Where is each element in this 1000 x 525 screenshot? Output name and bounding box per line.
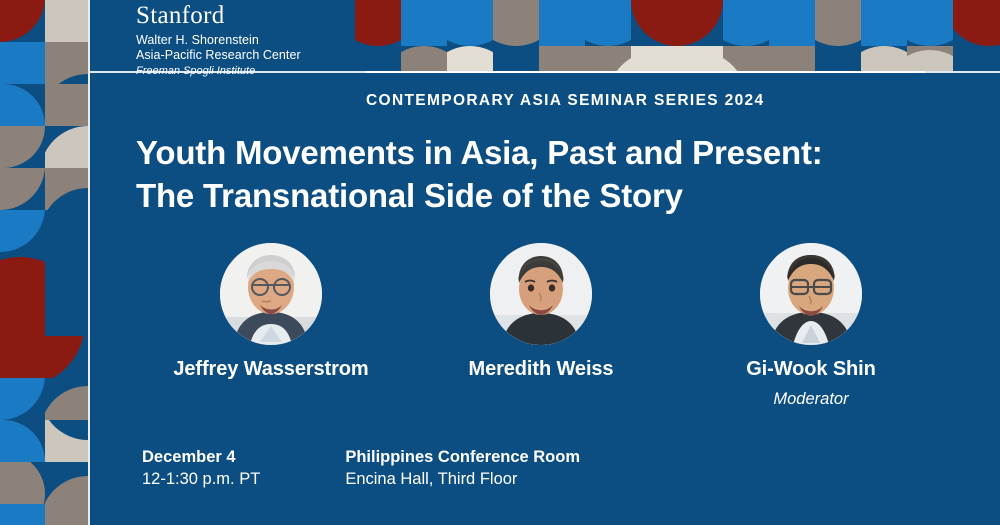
event-details: December 4 12-1:30 p.m. PT Philippines C…: [142, 446, 665, 491]
center-name-line-2: Asia-Pacific Research Center: [136, 48, 301, 63]
speaker-name: Jeffrey Wasserstrom: [173, 358, 368, 381]
speaker-card: Jeffrey Wasserstrom: [136, 243, 406, 409]
event-date: December 4: [142, 446, 260, 468]
event-datetime: December 4 12-1:30 p.m. PT: [142, 446, 260, 491]
event-title: Youth Movements in Asia, Past and Presen…: [136, 131, 946, 217]
institute-name: Freeman Spogli Institute: [136, 64, 301, 78]
event-location: Philippines Conference Room Encina Hall,…: [345, 446, 580, 491]
speaker-card: Gi-Wook Shin Moderator: [676, 243, 946, 409]
speaker-name: Meredith Weiss: [469, 358, 614, 381]
event-venue: Philippines Conference Room: [345, 446, 580, 468]
portrait-jeffrey-wasserstrom: [220, 243, 322, 345]
speaker-list: Jeffrey Wasserstrom: [136, 243, 946, 409]
decorative-pattern-left: [0, 0, 88, 525]
seminar-series-eyebrow: CONTEMPORARY ASIA SEMINAR SERIES 2024: [366, 92, 966, 110]
vertical-separator-rule: [88, 0, 90, 525]
speaker-card: Meredith Weiss: [406, 243, 676, 409]
decorative-pattern-top: [355, 0, 1000, 72]
event-title-line-2: The Transnational Side of the Story: [136, 174, 946, 217]
center-name-line-1: Walter H. Shorenstein: [136, 33, 301, 48]
portrait-gi-wook-shin: [760, 243, 862, 345]
eyebrow-rule: [365, 71, 925, 73]
speaker-name: Gi-Wook Shin: [746, 358, 876, 381]
stanford-shorenstein-logo: Stanford Walter H. Shorenstein Asia-Paci…: [136, 2, 301, 78]
event-poster: Stanford Walter H. Shorenstein Asia-Paci…: [0, 0, 1000, 525]
event-title-line-1: Youth Movements in Asia, Past and Presen…: [136, 131, 946, 174]
stanford-wordmark: Stanford: [136, 2, 301, 30]
portrait-meredith-weiss: [490, 243, 592, 345]
event-time: 12-1:30 p.m. PT: [142, 468, 260, 491]
speaker-role: Moderator: [773, 390, 848, 409]
event-venue-detail: Encina Hall, Third Floor: [345, 468, 580, 491]
